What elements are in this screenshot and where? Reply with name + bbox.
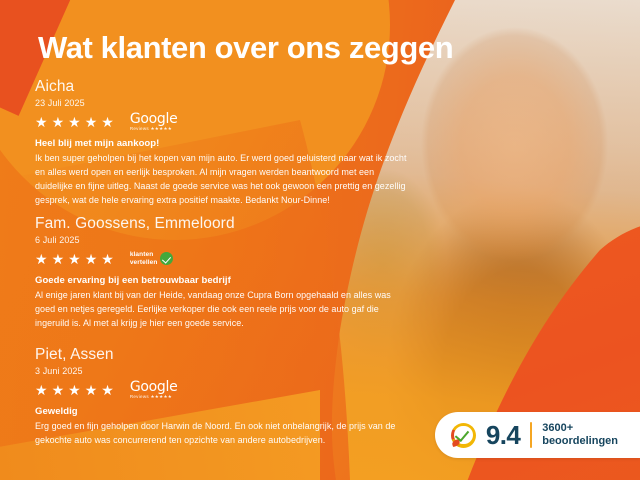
klantenvertellen-logo-icon: klanten vertellen [130, 251, 174, 267]
google-logo-icon: Google Reviews ★★★★★ [130, 380, 178, 400]
review-rating-row: ★ ★ ★ ★ ★ klanten vertellen [35, 250, 413, 267]
star-icon: ★ [52, 115, 65, 129]
star-icon: ★ [52, 383, 65, 397]
google-reviews-sublabel: Reviews ★★★★★ [130, 127, 178, 132]
star-icon: ★ [52, 252, 65, 266]
rating-divider [530, 422, 532, 448]
star-rating: ★ ★ ★ ★ ★ [35, 115, 114, 129]
review-body: Erg goed en fijn geholpen door Harwin de… [35, 420, 413, 448]
google-logo-icon: Google Reviews ★★★★★ [130, 112, 178, 132]
review-date: 6 Juli 2025 [35, 235, 413, 245]
kiyoh-check-icon [451, 423, 476, 448]
review-rating-row: ★ ★ ★ ★ ★ Google Reviews ★★★★★ [35, 381, 413, 398]
star-icon: ★ [68, 115, 81, 129]
review-card: Aicha 23 Juli 2025 ★ ★ ★ ★ ★ Google Revi… [35, 78, 413, 208]
reviewer-name: Fam. Goossens, Emmeloord [35, 215, 413, 233]
rating-score: 9.4 [486, 422, 520, 448]
star-icon: ★ [68, 383, 81, 397]
star-icon: ★ [101, 115, 114, 129]
review-source-google: Google Reviews ★★★★★ [130, 380, 178, 400]
google-reviews-sublabel: Reviews ★★★★★ [130, 395, 178, 400]
review-rating-row: ★ ★ ★ ★ ★ Google Reviews ★★★★★ [35, 113, 413, 130]
klantenvertellen-line1: klanten [130, 251, 158, 259]
star-icon: ★ [35, 383, 48, 397]
review-title: Geweldig [35, 406, 413, 417]
star-icon: ★ [101, 383, 114, 397]
review-count: 3600+ [542, 422, 618, 435]
review-count-label: beoordelingen [542, 435, 618, 448]
rating-badge[interactable]: 9.4 3600+ beoordelingen [435, 412, 640, 458]
page-title: Wat klanten over ons zeggen [38, 30, 453, 66]
star-icon: ★ [35, 115, 48, 129]
review-banner: Wat klanten over ons zeggen Aicha 23 Jul… [0, 0, 640, 480]
star-icon: ★ [35, 252, 48, 266]
review-title: Goede ervaring bij een betrouwbaar bedri… [35, 275, 413, 286]
review-date: 3 Juni 2025 [35, 366, 413, 376]
green-check-icon [160, 252, 173, 265]
star-icon: ★ [68, 252, 81, 266]
review-body: Al enige jaren klant bij van der Heide, … [35, 289, 413, 331]
star-rating: ★ ★ ★ ★ ★ [35, 383, 114, 397]
review-title: Heel blij met mijn aankoop! [35, 138, 413, 149]
banner-content: Wat klanten over ons zeggen Aicha 23 Jul… [0, 0, 640, 480]
rating-meta: 3600+ beoordelingen [542, 422, 618, 448]
reviewer-name: Aicha [35, 78, 413, 96]
star-icon: ★ [85, 383, 98, 397]
review-card: Piet, Assen 3 Juni 2025 ★ ★ ★ ★ ★ Google… [35, 346, 413, 448]
review-card: Fam. Goossens, Emmeloord 6 Juli 2025 ★ ★… [35, 215, 413, 331]
google-wordmark: Google [130, 380, 178, 394]
star-icon: ★ [85, 115, 98, 129]
google-wordmark: Google [130, 112, 178, 126]
klantenvertellen-line2: vertellen [130, 259, 158, 267]
review-source-klantenvertellen: klanten vertellen [130, 251, 174, 267]
klantenvertellen-wordmark: klanten vertellen [130, 251, 158, 267]
review-body: Ik ben super geholpen bij het kopen van … [35, 152, 413, 208]
star-icon: ★ [85, 252, 98, 266]
star-rating: ★ ★ ★ ★ ★ [35, 252, 114, 266]
reviewer-name: Piet, Assen [35, 346, 413, 364]
review-date: 23 Juli 2025 [35, 98, 413, 108]
star-icon: ★ [101, 252, 114, 266]
review-source-google: Google Reviews ★★★★★ [130, 112, 178, 132]
